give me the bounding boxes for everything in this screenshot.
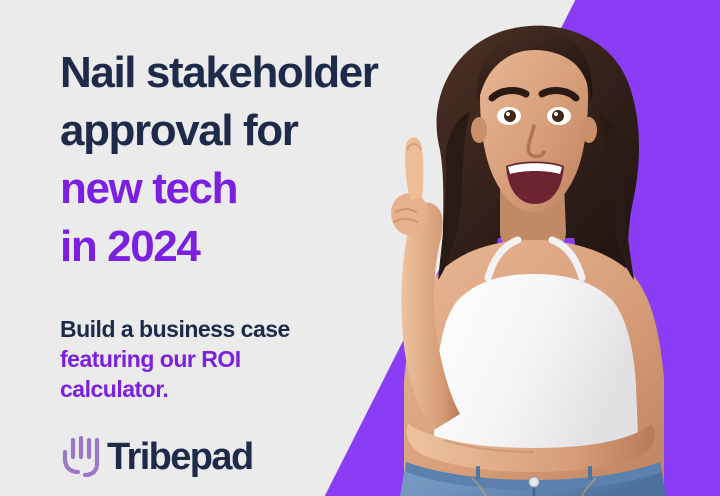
headline: Nail stakeholder approval for new tech i… <box>60 0 480 276</box>
marketing-banner: Nail stakeholder approval for new tech i… <box>0 0 720 496</box>
tribepad-wordmark: Tribepad <box>107 438 253 476</box>
tribepad-hand-icon <box>60 436 100 478</box>
headline-line-4-accent: in 2024 <box>60 218 480 276</box>
subheadline-part-1: Build a business case <box>60 316 290 342</box>
content-column: Nail stakeholder approval for new tech i… <box>60 0 480 496</box>
headline-line-2: approval for <box>60 102 480 160</box>
subheadline-part-2-accent: featuring our ROI calculator. <box>60 346 241 402</box>
tribepad-logo: Tribepad <box>60 404 480 478</box>
headline-line-3-accent: new tech <box>60 160 480 218</box>
subheadline: Build a business case featuring our ROI … <box>60 276 330 404</box>
headline-line-1: Nail stakeholder <box>60 44 480 102</box>
